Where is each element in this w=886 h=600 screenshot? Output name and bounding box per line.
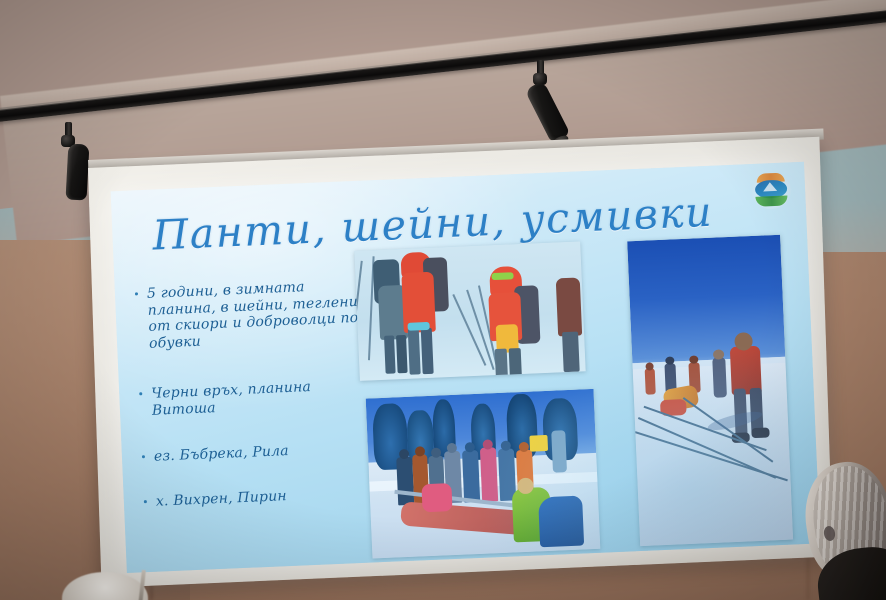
logo-mountain-peak — [763, 182, 777, 192]
bullet-text: Черни връх, планина Витоша — [151, 379, 311, 418]
photo-snow-slope-team — [627, 235, 793, 546]
leg — [421, 328, 434, 374]
figure — [645, 368, 656, 394]
person — [462, 450, 480, 503]
bullet-dot-icon — [139, 392, 142, 395]
figure — [481, 265, 542, 375]
leg — [562, 332, 580, 373]
presentation-slide: Панти, шейни, усмивки 5 години, в зимнат… — [111, 162, 821, 573]
trail-sign — [529, 435, 548, 452]
person-crouching — [538, 496, 584, 548]
bullet-text: ез. Бъбрека, Рила — [154, 443, 289, 465]
post — [551, 430, 567, 473]
waist-belt — [407, 322, 429, 331]
list-item: Черни връх, планина Витоша — [135, 376, 380, 419]
spotlight-housing — [66, 143, 90, 200]
slide-bullet-list: 5 години, в зимната планина, в шейни, те… — [131, 276, 385, 526]
list-item: 5 години, в зимната планина, в шейни, те… — [131, 276, 378, 352]
photo-group-in-snowy-forest — [366, 389, 601, 559]
bullet-text: х. Вихрен, Пирин — [156, 488, 288, 510]
bullet-dot-icon — [142, 455, 145, 458]
boot — [751, 427, 769, 438]
figure — [396, 249, 453, 377]
person — [480, 447, 498, 502]
goggles — [491, 272, 513, 280]
list-item: ез. Бъбрека, Рила — [138, 439, 382, 466]
audience-head — [796, 462, 886, 600]
jacket — [556, 277, 582, 336]
room-photo: Панти, шейни, усмивки 5 години, в зимнат… — [0, 0, 886, 600]
leg — [408, 328, 421, 374]
slide-container: Панти, шейни, усмивки 5 години, в зимнат… — [96, 147, 828, 577]
bullet-dot-icon — [135, 292, 138, 295]
figure — [553, 271, 585, 372]
bullet-text: 5 години, в зимната планина, в шейни, те… — [147, 279, 359, 351]
leg — [384, 335, 396, 373]
bullet-dot-icon — [144, 500, 147, 503]
organization-logo — [750, 170, 792, 210]
photo-sky — [627, 235, 785, 373]
list-item: х. Вихрен, Пирин — [140, 484, 384, 511]
leg — [495, 349, 508, 377]
photo-skiers-with-backpacks — [354, 241, 585, 381]
leg — [509, 348, 522, 376]
person-crouching — [421, 483, 452, 512]
figure — [712, 357, 727, 398]
